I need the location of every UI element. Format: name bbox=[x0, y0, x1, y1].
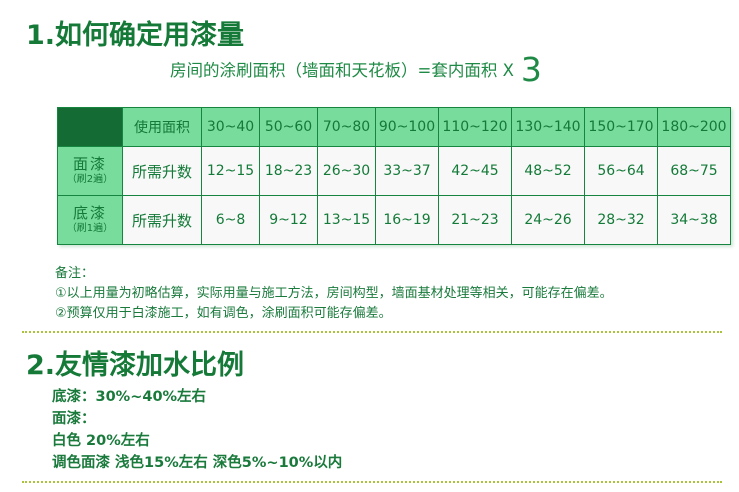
cell-topcoat-6: 48~52 bbox=[512, 147, 585, 196]
section-2-heading: 2.友情漆加水比例 bbox=[26, 352, 244, 379]
paint-quantity-table: 使用面积 30~40 50~60 70~80 90~100 110~120 13… bbox=[57, 107, 731, 245]
ratio-line-topcoat-title: 面漆： bbox=[52, 408, 342, 430]
water-ratio-list: 底漆：30%~40%左右 面漆： 白色 20%左右 调色面漆 浅色15%左右 深… bbox=[52, 386, 342, 474]
cell-primer-4: 16~19 bbox=[376, 196, 439, 245]
note-item-2: ②预算仅用于白漆施工，如有调色，涂刷面积可能存偏差。 bbox=[55, 304, 613, 324]
coverage-formula-text: 房间的涂刷面积（墙面和天花板）=套内面积 X bbox=[170, 61, 514, 80]
coverage-formula-multiplier: 3 bbox=[521, 50, 542, 89]
cell-topcoat-7: 56~64 bbox=[585, 147, 658, 196]
table-header-range-7: 150~170 bbox=[585, 108, 658, 147]
row-label-topcoat-sub: （刷2遍） bbox=[58, 174, 122, 186]
cell-primer-7: 28~32 bbox=[585, 196, 658, 245]
ratio-line-primer: 底漆：30%~40%左右 bbox=[52, 386, 342, 408]
divider-dotted-bottom bbox=[22, 481, 722, 483]
section-1-heading: 1.如何确定用漆量 bbox=[26, 22, 244, 49]
ratio-line-tinted: 调色面漆 浅色15%左右 深色5%~10%以内 bbox=[52, 452, 342, 474]
cell-topcoat-2: 18~23 bbox=[260, 147, 318, 196]
cell-primer-2: 9~12 bbox=[260, 196, 318, 245]
table-header-usage-area: 使用面积 bbox=[123, 108, 202, 147]
coverage-formula: 房间的涂刷面积（墙面和天花板）=套内面积 X3 bbox=[170, 63, 542, 80]
row-label-topcoat: 面漆 （刷2遍） bbox=[58, 147, 123, 196]
cell-primer-1: 6~8 bbox=[202, 196, 260, 245]
cell-topcoat-1: 12~15 bbox=[202, 147, 260, 196]
cell-topcoat-8: 68~75 bbox=[658, 147, 731, 196]
paint-quantity-table-wrapper: 使用面积 30~40 50~60 70~80 90~100 110~120 13… bbox=[57, 107, 731, 245]
row-label-topcoat-main: 面漆 bbox=[58, 156, 122, 173]
table-header-range-4: 90~100 bbox=[376, 108, 439, 147]
table-row: 面漆 （刷2遍） 所需升数 12~15 18~23 26~30 33~37 42… bbox=[58, 147, 731, 196]
table-header-range-2: 50~60 bbox=[260, 108, 318, 147]
row-label-primer-sub: （刷1遍） bbox=[58, 223, 122, 235]
cell-primer-6: 24~26 bbox=[512, 196, 585, 245]
table-header-range-3: 70~80 bbox=[318, 108, 376, 147]
cell-primer-8: 34~38 bbox=[658, 196, 731, 245]
divider-dotted-middle bbox=[22, 331, 722, 333]
notes-block: 备注： ①以上用量为初略估算，实际用量与施工方法，房间构型，墙面基材处理等相关，… bbox=[55, 264, 613, 324]
row-metric-topcoat: 所需升数 bbox=[123, 147, 202, 196]
cell-primer-3: 13~15 bbox=[318, 196, 376, 245]
table-corner-cell bbox=[58, 108, 123, 147]
row-label-primer-main: 底漆 bbox=[58, 205, 122, 222]
cell-topcoat-3: 26~30 bbox=[318, 147, 376, 196]
cell-topcoat-4: 33~37 bbox=[376, 147, 439, 196]
infographic-page: 1.如何确定用漆量 房间的涂刷面积（墙面和天花板）=套内面积 X3 使用面积 3… bbox=[0, 0, 739, 492]
note-item-1: ①以上用量为初略估算，实际用量与施工方法，房间构型，墙面基材处理等相关，可能存在… bbox=[55, 284, 613, 304]
table-header-range-8: 180~200 bbox=[658, 108, 731, 147]
cell-topcoat-5: 42~45 bbox=[439, 147, 512, 196]
ratio-line-white: 白色 20%左右 bbox=[52, 430, 342, 452]
notes-title: 备注： bbox=[55, 264, 613, 284]
table-row: 底漆 （刷1遍） 所需升数 6~8 9~12 13~15 16~19 21~23… bbox=[58, 196, 731, 245]
cell-primer-5: 21~23 bbox=[439, 196, 512, 245]
table-header-range-1: 30~40 bbox=[202, 108, 260, 147]
row-label-primer: 底漆 （刷1遍） bbox=[58, 196, 123, 245]
table-header-range-5: 110~120 bbox=[439, 108, 512, 147]
table-header-range-6: 130~140 bbox=[512, 108, 585, 147]
row-metric-primer: 所需升数 bbox=[123, 196, 202, 245]
table-header-row: 使用面积 30~40 50~60 70~80 90~100 110~120 13… bbox=[58, 108, 731, 147]
